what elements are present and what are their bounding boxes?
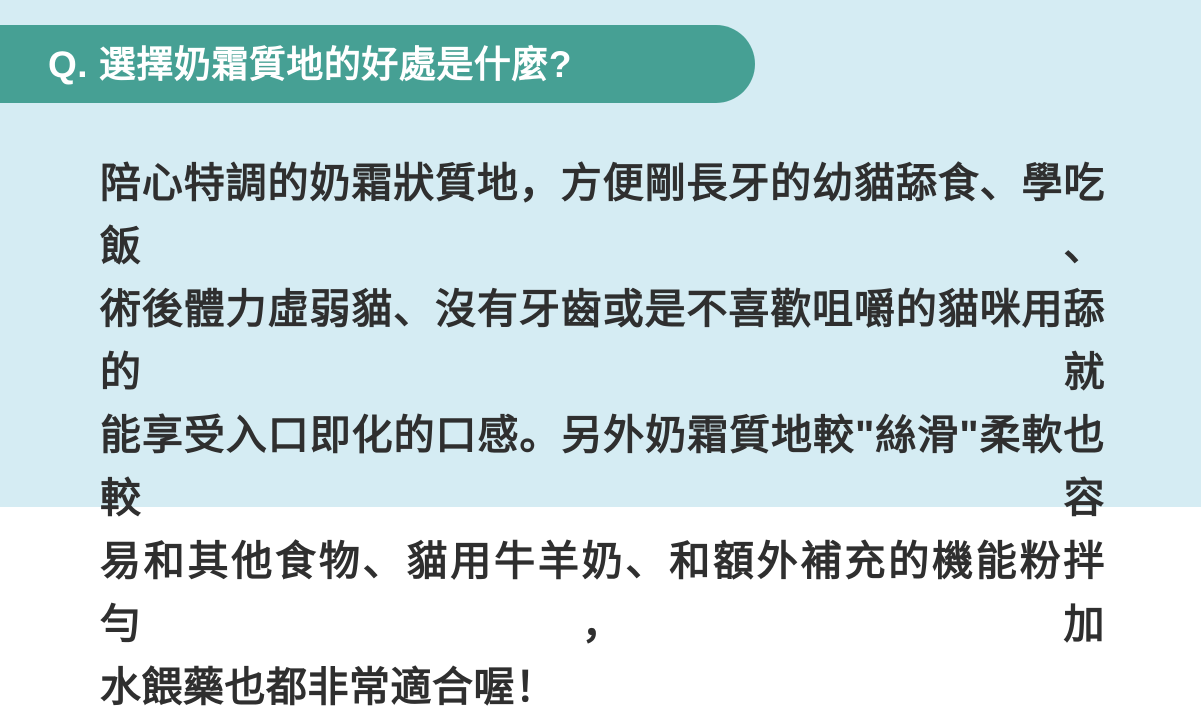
qa-card: Q. 選擇奶霜質地的好處是什麼? 陪心特調的奶霜狀質地，方便剛長牙的幼貓舔食、學… xyxy=(0,0,1201,507)
question-banner: Q. 選擇奶霜質地的好處是什麼? xyxy=(0,25,755,103)
answer-line: 水餵藥也都非常適合喔！ xyxy=(100,656,1105,719)
question-title: Q. 選擇奶霜質地的好處是什麼? xyxy=(48,46,572,83)
answer-line: 能享受入口即化的口感。另外奶霜質地較"絲滑"柔軟也較容 xyxy=(100,404,1105,530)
answer-line: 易和其他食物、貓用牛羊奶、和額外補充的機能粉拌勻，加 xyxy=(100,530,1105,656)
answer-body: 陪心特調的奶霜狀質地，方便剛長牙的幼貓舔食、學吃飯、 術後體力虛弱貓、沒有牙齒或… xyxy=(100,152,1105,719)
answer-line: 術後體力虛弱貓、沒有牙齒或是不喜歡咀嚼的貓咪用舔的就 xyxy=(100,278,1105,404)
answer-line: 陪心特調的奶霜狀質地，方便剛長牙的幼貓舔食、學吃飯、 xyxy=(100,152,1105,278)
